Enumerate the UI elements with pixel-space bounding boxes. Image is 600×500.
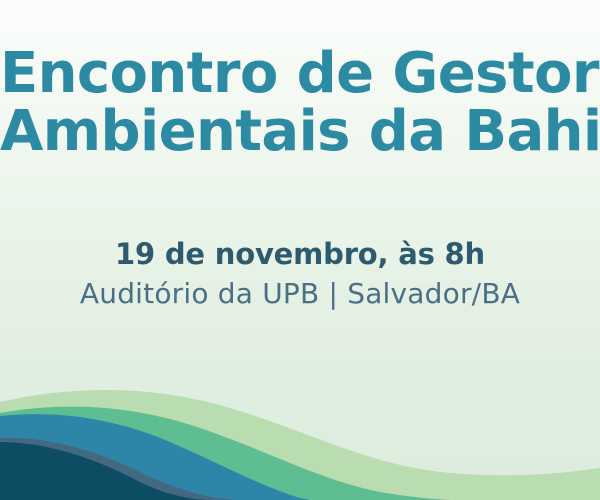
title-line-1: Encontro de Gestores [0,46,600,102]
event-location: Auditório da UPB | Salvador/BA [0,277,600,311]
page-title: Encontro de Gestores Ambientais da Bahia [0,46,600,160]
event-details: 19 de novembro, às 8h Auditório da UPB |… [0,236,600,311]
event-banner: Encontro de Gestores Ambientais da Bahia… [0,0,600,500]
event-date: 19 de novembro, às 8h [0,236,600,272]
wave-decoration-graphic [0,380,600,500]
title-line-2: Ambientais da Bahia [0,104,600,160]
